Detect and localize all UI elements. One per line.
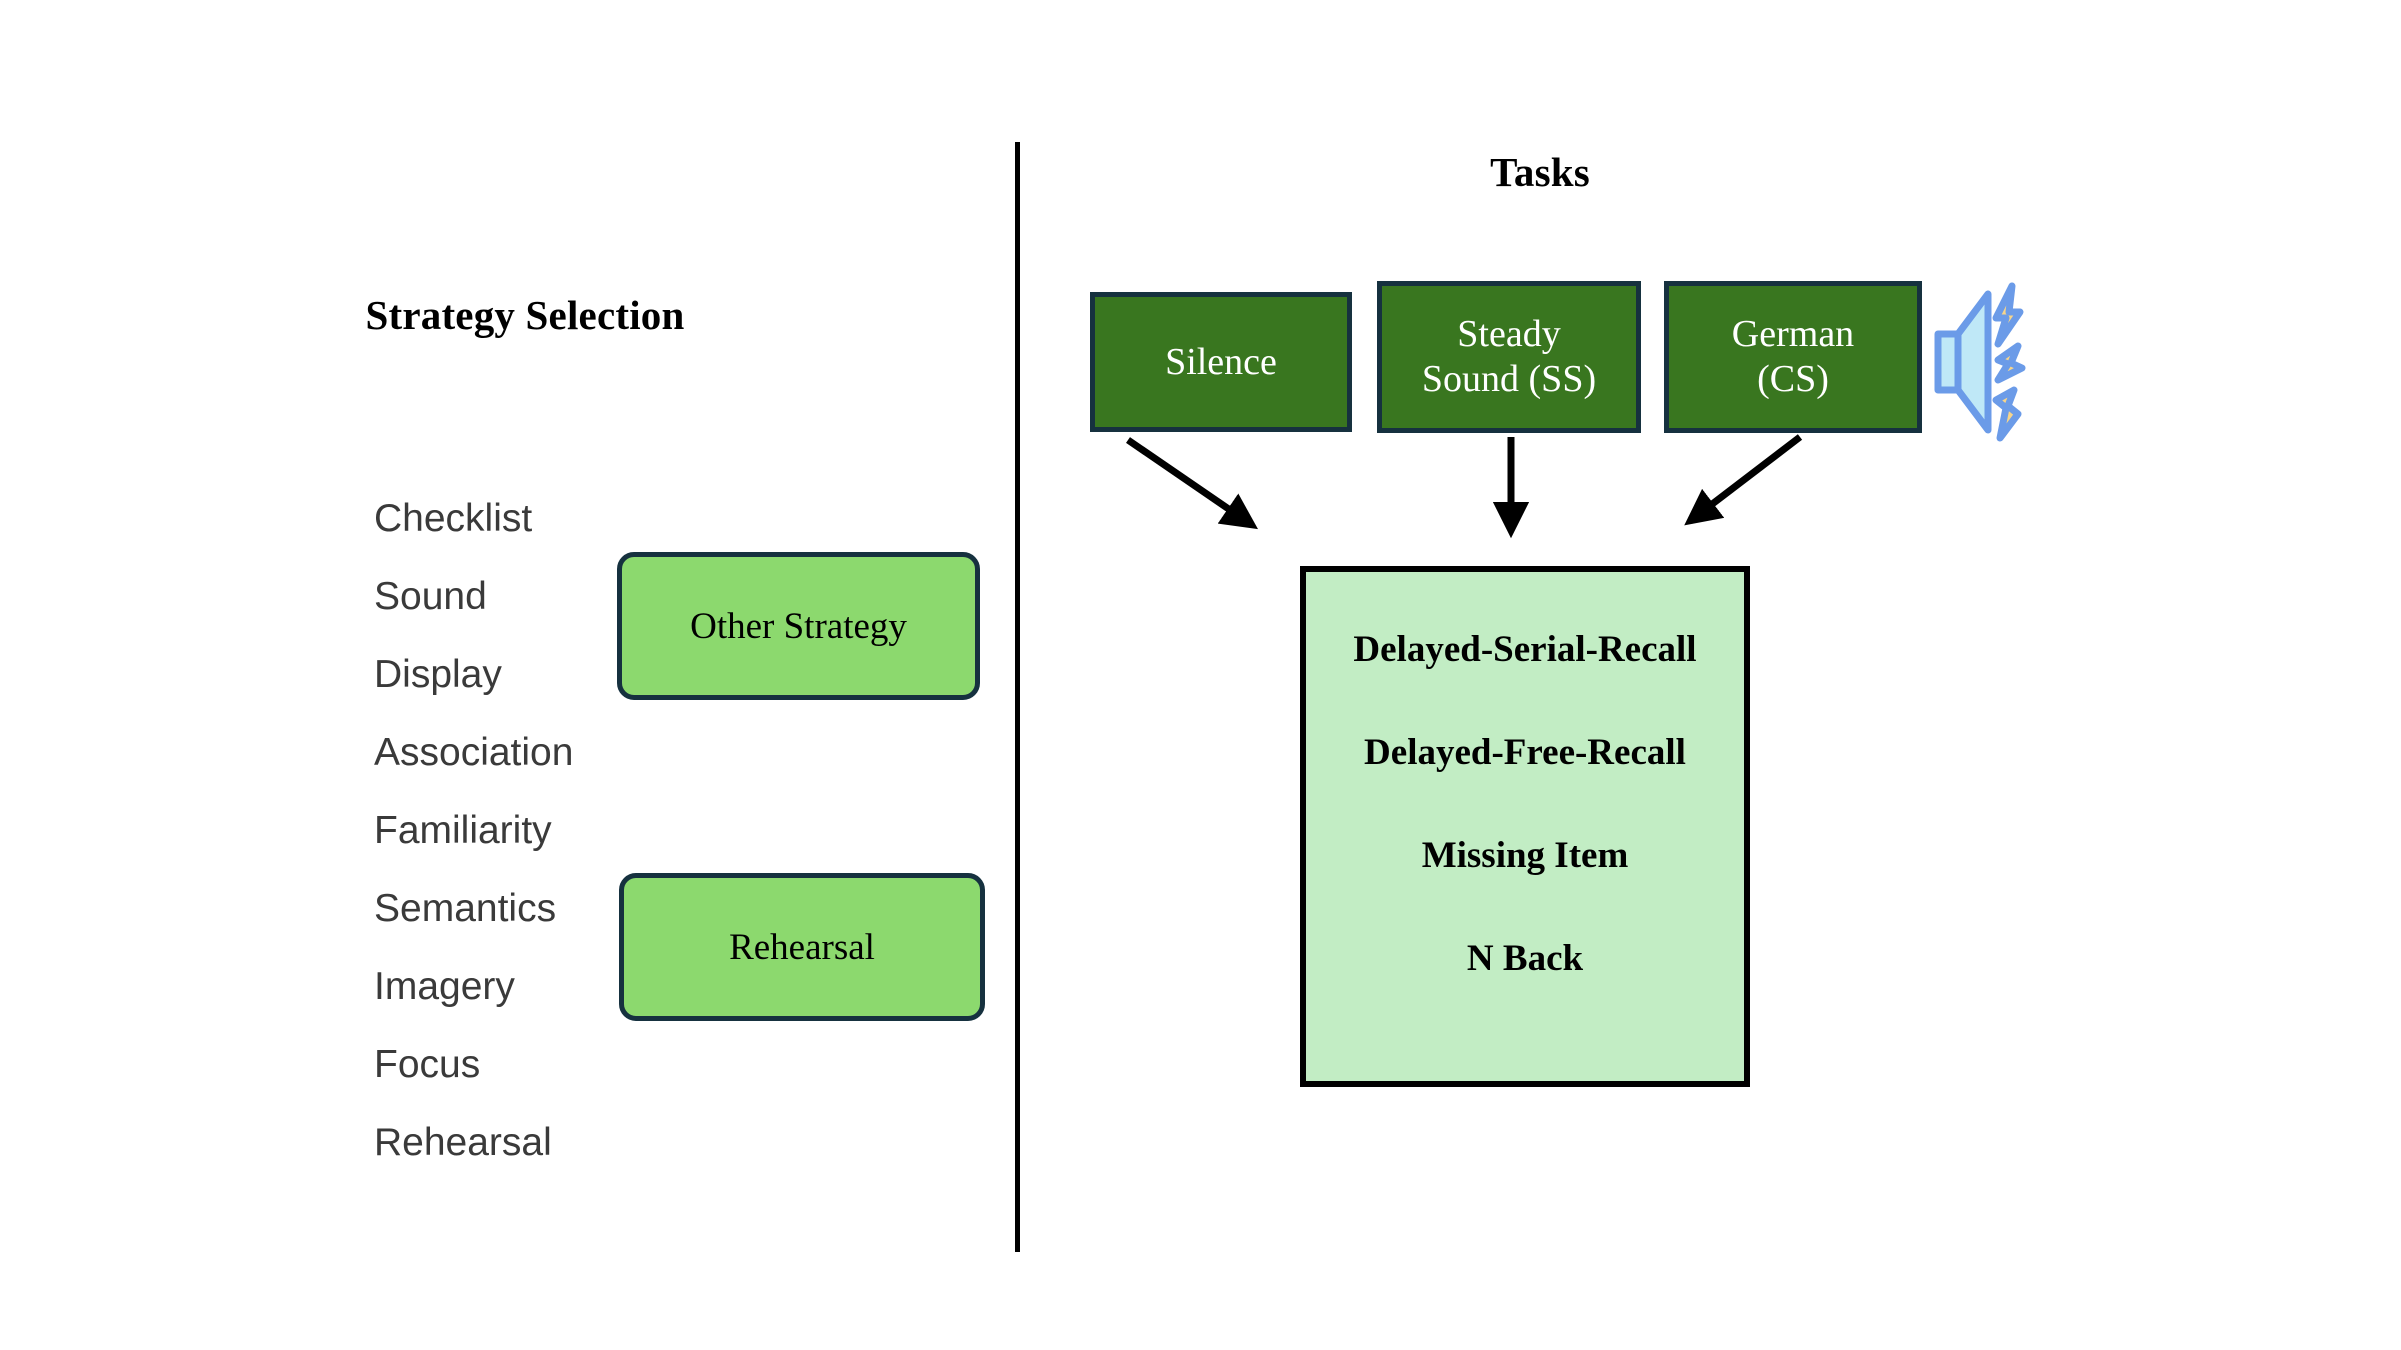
other-strategy-box: Other Strategy bbox=[617, 552, 980, 700]
sound-bolt-bottom bbox=[1996, 390, 2018, 438]
task-condition-silence: Silence bbox=[1090, 292, 1352, 432]
speaker-cone bbox=[1958, 294, 1988, 430]
task-delayed-free-recall: Delayed-Free-Recall bbox=[1364, 731, 1686, 774]
sound-bolt-top bbox=[1996, 286, 2020, 344]
strategy-item-focus: Focus bbox=[374, 1025, 704, 1103]
arrow-german bbox=[1690, 437, 1800, 521]
sound-bolt-middle bbox=[1998, 346, 2022, 380]
strategy-item-checklist: Checklist bbox=[374, 479, 704, 557]
strategy-selection-title: Strategy Selection bbox=[300, 291, 750, 339]
figure-canvas: Strategy Selection Checklist Sound Displ… bbox=[0, 0, 2401, 1350]
task-missing-item: Missing Item bbox=[1422, 834, 1629, 877]
strategy-item-familiarity: Familiarity bbox=[374, 791, 704, 869]
tasks-panel: Delayed-Serial-Recall Delayed-Free-Recal… bbox=[1300, 566, 1750, 1087]
task-delayed-serial-recall: Delayed-Serial-Recall bbox=[1353, 628, 1696, 671]
strategy-item-association: Association bbox=[374, 713, 704, 791]
strategy-item-rehearsal: Rehearsal bbox=[374, 1103, 704, 1181]
tasks-title: Tasks bbox=[1330, 148, 1750, 196]
speaker-sound-icon bbox=[1930, 272, 2040, 452]
arrow-silence bbox=[1128, 440, 1252, 525]
task-condition-german: German(CS) bbox=[1664, 281, 1922, 433]
task-n-back: N Back bbox=[1467, 937, 1583, 980]
rehearsal-strategy-box: Rehearsal bbox=[619, 873, 985, 1021]
vertical-divider bbox=[1015, 142, 1020, 1252]
task-condition-steady-sound: SteadySound (SS) bbox=[1377, 281, 1641, 433]
condition-to-tasks-arrows bbox=[1100, 425, 1930, 585]
